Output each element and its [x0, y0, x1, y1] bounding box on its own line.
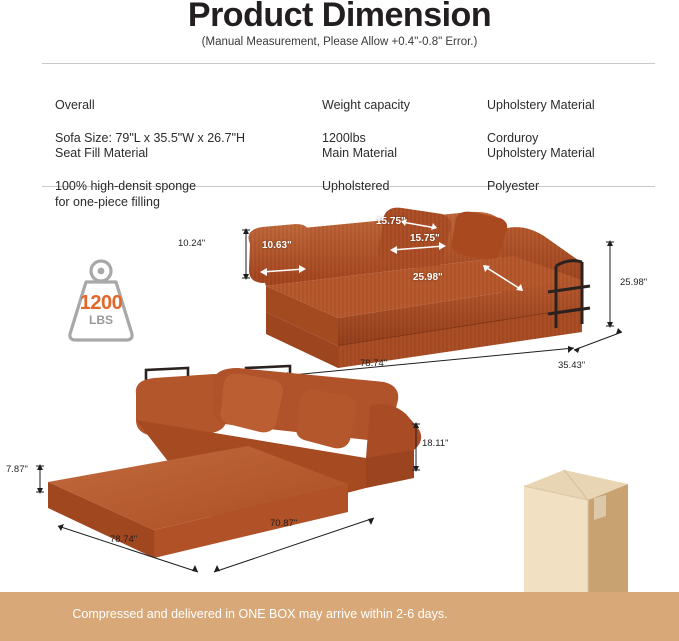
page-title: Product Dimension [0, 0, 679, 35]
dim-bed-width: 78.74" [110, 534, 137, 545]
spec-label: Overall [55, 97, 245, 114]
sofa-folded-illustration: 10.24" 10.63" 15.75" 15.75" 25.98" 25.98… [170, 200, 640, 390]
dim-overall-depth: 35.43" [558, 360, 585, 371]
bed-pillow-2 [296, 390, 357, 449]
measurement-disclaimer: (Manual Measurement, Please Allow +0.4"-… [0, 36, 679, 48]
delivery-banner-text: Compressed and delivered in ONE BOX may … [0, 607, 520, 621]
spec-label: Upholstery Material [487, 97, 595, 114]
dim-overall-height: 25.98" [620, 277, 647, 288]
dim-arm-width: 10.63" [262, 240, 292, 251]
bed-pillow-1 [220, 374, 283, 433]
dim-back-height: 18.11" [422, 438, 448, 449]
dim-seat-depth: 25.98" [413, 272, 443, 283]
spec-value: Upholstered [322, 178, 397, 195]
spec-value: Polyester [487, 178, 595, 195]
weight-unit: LBS [62, 313, 140, 327]
box-tape [594, 495, 606, 520]
weight-number: 1200 [62, 292, 140, 315]
dim-bed-length: 70.87" [270, 518, 297, 529]
dim-pillow-height: 15.75" [376, 216, 406, 227]
product-dimension-infographic: Product Dimension (Manual Measurement, P… [0, 0, 679, 641]
spec-label: Main Material [322, 145, 397, 162]
weight-capacity-badge: 1200 LBS [62, 258, 140, 350]
dim-pillow-width: 15.75" [410, 233, 440, 244]
sofa-bed-illustration: 7.87" 18.11" 78.74" 70.87" [18, 366, 468, 581]
spec-upholstery-polyester: Upholstery Material Polyester [487, 128, 595, 211]
dim-arm-height: 10.24" [178, 238, 205, 249]
sofa-pillow-2 [452, 212, 508, 261]
divider-top [42, 63, 655, 64]
dim-mattress-thickness: 7.87" [6, 464, 28, 475]
spec-label: Seat Fill Material [55, 145, 196, 162]
spec-label: Weight capacity [322, 97, 410, 114]
spec-main-material: Main Material Upholstered [322, 128, 397, 211]
spec-label: Upholstery Material [487, 145, 595, 162]
